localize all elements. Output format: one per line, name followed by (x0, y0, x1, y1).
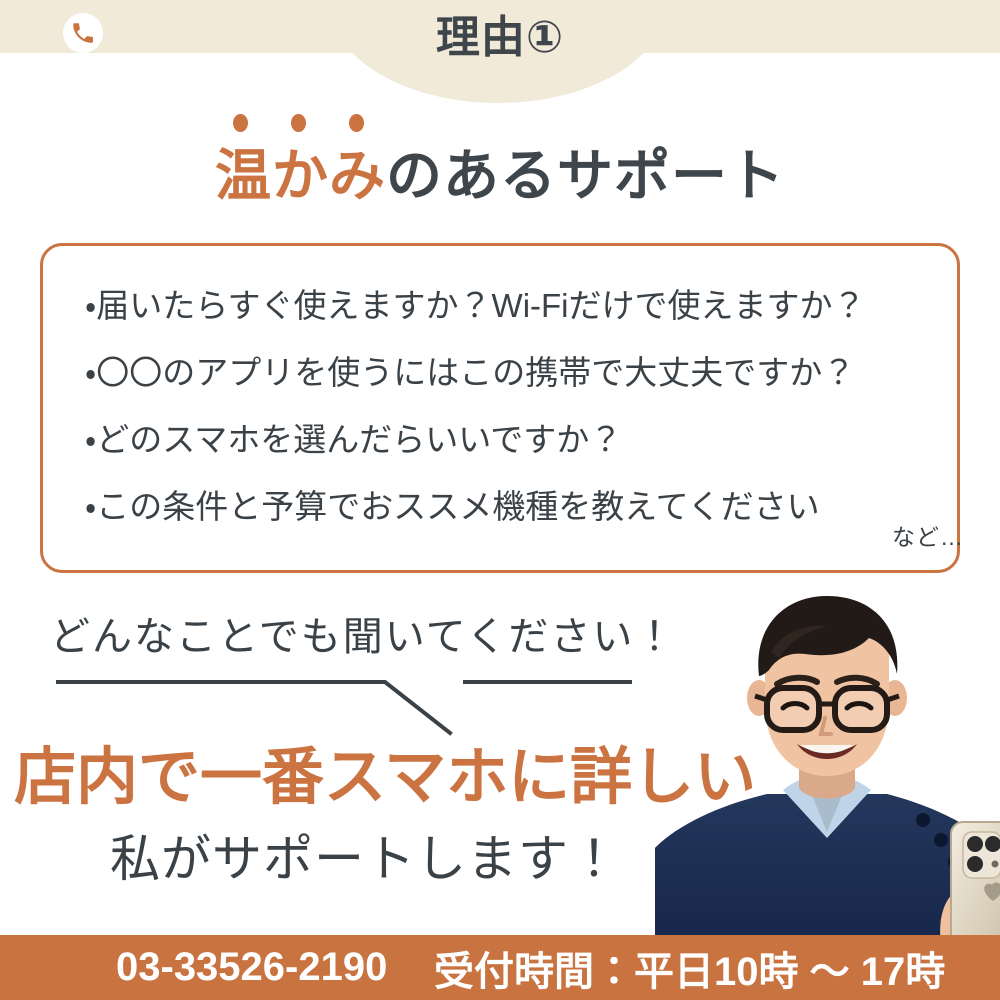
emphasis-dot-icon (349, 114, 364, 132)
speech-bubble-tail-icon (40, 660, 680, 740)
footer-phone-number[interactable]: 03-33526-2190 (116, 935, 387, 1000)
phone-glyph (70, 20, 96, 46)
list-item: ・〇〇のアプリを使うにはこの携帯で大丈夫ですか？ (85, 339, 937, 406)
header-badge-label: 理由① (0, 8, 1000, 68)
emphasis-dots (233, 114, 433, 134)
question-list-box: ・届いたらすぐ使えますか？Wi-Fiだけで使えますか？ ・〇〇のアプリを使うには… (40, 243, 960, 573)
emphasis-dot-icon (291, 114, 306, 132)
etc-note: など… (892, 518, 964, 552)
headline: 店内で一番スマホに詳しい (14, 742, 756, 814)
list-item: ・この条件と予算でおススメ機種を教えてください (85, 473, 937, 540)
section-title-rest: のあるサポート (386, 144, 785, 207)
staff-photo (655, 592, 1000, 952)
poster-root: 理由① 温かみのあるサポート ・届いたらすぐ使えますか？Wi-Fiだけで使えます… (0, 0, 1000, 1000)
list-item: ・どのスマホを選んだらいいですか？ (85, 406, 937, 473)
list-item: ・届いたらすぐ使えますか？Wi-Fiだけで使えますか？ (85, 272, 937, 339)
footer-business-hours: 受付時間：平日10時 ～ 17時 (434, 935, 945, 1000)
smartphone (951, 822, 1000, 952)
question-list: ・届いたらすぐ使えますか？Wi-Fiだけで使えますか？ ・〇〇のアプリを使うには… (85, 272, 937, 540)
section-title-highlight: 温かみ (215, 144, 386, 207)
ask-line: どんなことでも聞いてください！ (50, 604, 676, 662)
emphasis-dot-icon (233, 114, 248, 132)
section-title: 温かみのあるサポート (0, 140, 1000, 212)
phone-handset-icon[interactable] (63, 13, 103, 53)
subline: 私がサポートします！ (110, 826, 620, 892)
